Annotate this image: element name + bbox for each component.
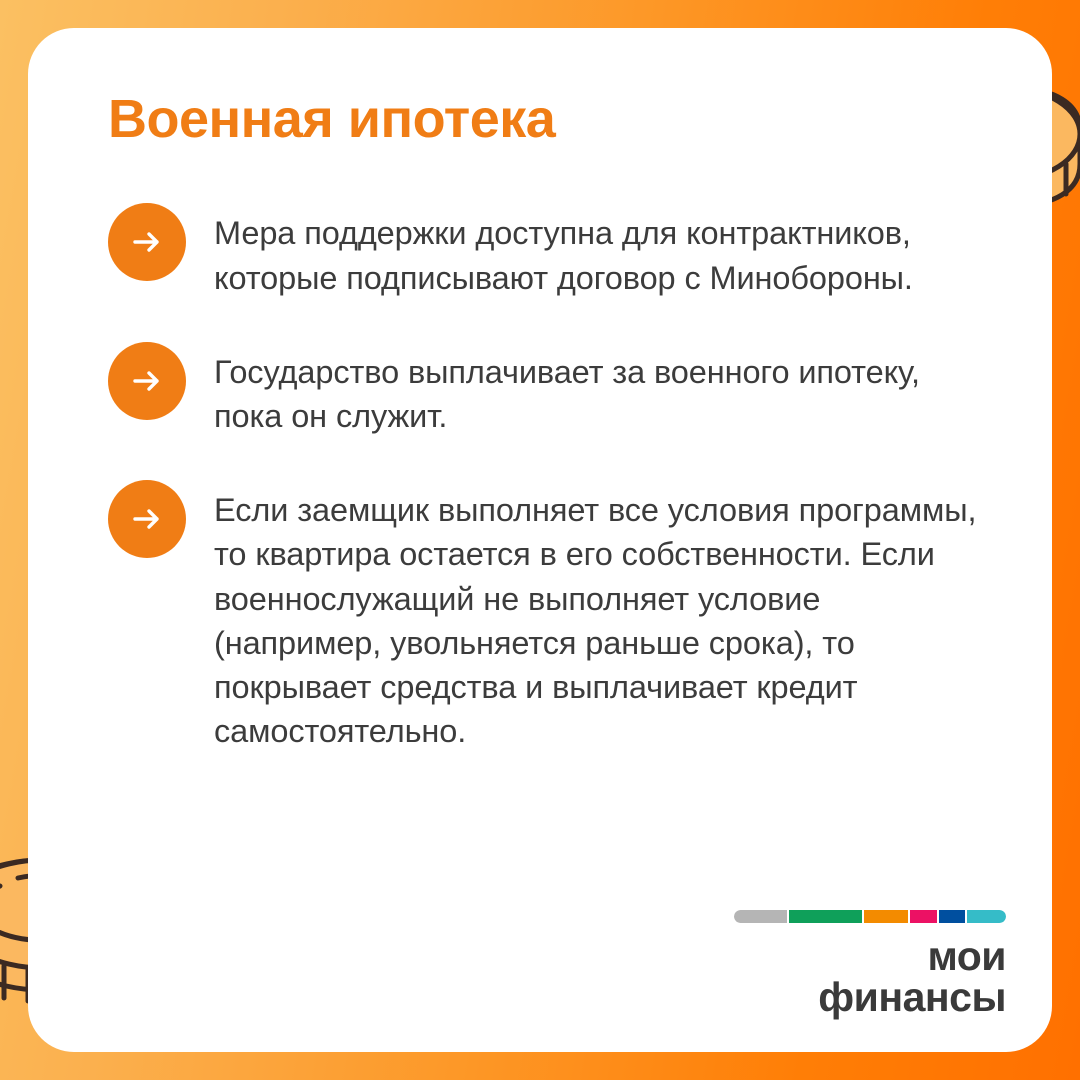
- list-item: Мера поддержки доступна для контрактнико…: [108, 207, 992, 299]
- arrow-right-icon: [108, 480, 186, 558]
- list-item: Государство выплачивает за военного ипот…: [108, 346, 992, 438]
- page-title: Военная ипотека: [108, 90, 992, 149]
- logo-bar-segment-cyan: [967, 910, 1006, 923]
- arrow-right-icon: [108, 342, 186, 420]
- list-item-text: Государство выплачивает за военного ипот…: [214, 346, 992, 438]
- logo-bar-segment-navy: [939, 910, 966, 923]
- content-card: Военная ипотека Мера поддержки доступна …: [28, 28, 1052, 1052]
- bullet-list: Мера поддержки доступна для контрактнико…: [108, 207, 992, 753]
- logo-bar-segment-green: [789, 910, 862, 923]
- brand-logo: мои финансы: [734, 910, 1006, 1018]
- list-item-text: Если заемщик выполняет все условия прогр…: [214, 484, 992, 753]
- arrow-right-icon: [108, 203, 186, 281]
- list-item: Если заемщик выполняет все условия прогр…: [108, 484, 992, 753]
- list-item-text: Мера поддержки доступна для контрактнико…: [214, 207, 992, 299]
- logo-wordmark: мои финансы: [734, 936, 1006, 1018]
- logo-bar-segment-orange: [864, 910, 908, 923]
- logo-color-bar: [734, 910, 1006, 923]
- logo-bar-segment-gray: [734, 910, 787, 923]
- logo-bar-segment-magenta: [910, 910, 937, 923]
